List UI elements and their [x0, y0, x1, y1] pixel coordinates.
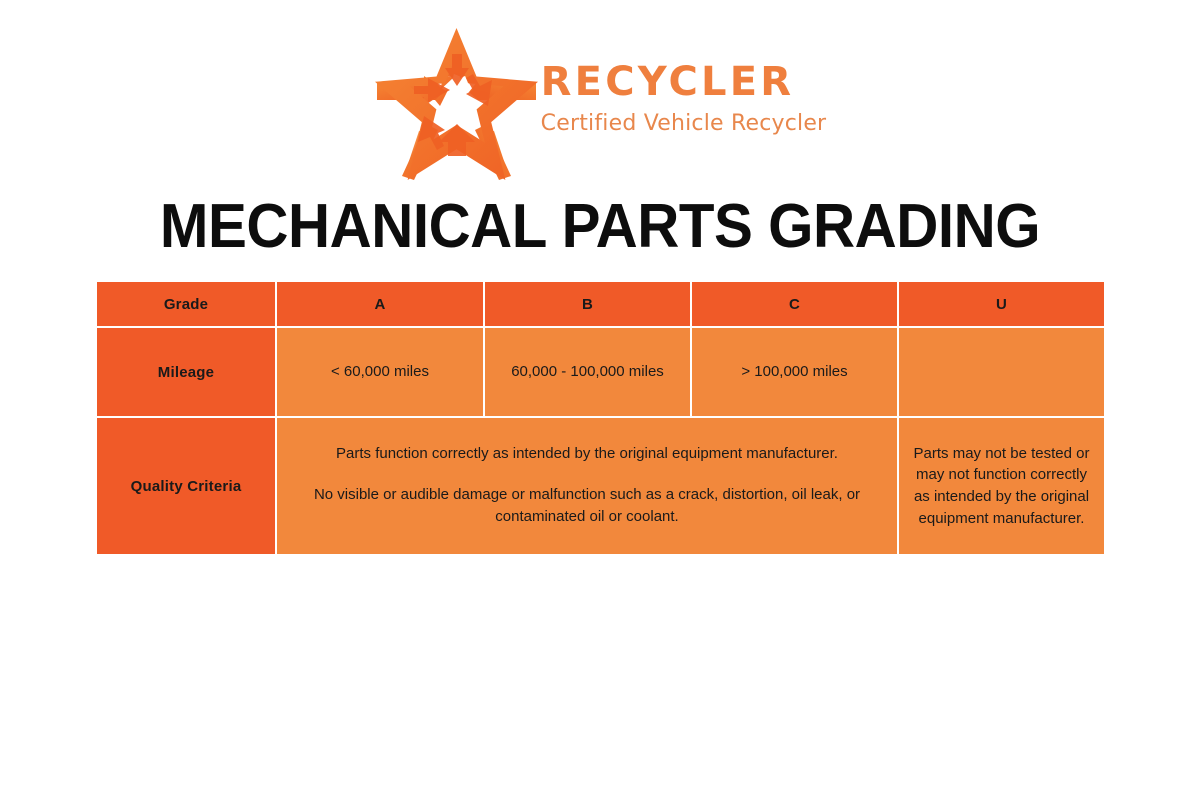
logo-wordmark: RECYCLER Certified Vehicle Recycler [541, 62, 827, 147]
mileage-grade-b: 60,000 - 100,000 miles [484, 327, 691, 417]
table-header-row: Grade A B C U [96, 281, 1105, 327]
logo-name: RECYCLER [541, 62, 827, 102]
logo-tagline: Certified Vehicle Recycler [541, 113, 827, 135]
logo-inner: RECYCLER Certified Vehicle Recycler [374, 28, 827, 180]
mileage-grade-u [898, 327, 1105, 417]
quality-criteria-paragraph-2: No visible or audible damage or malfunct… [303, 484, 871, 529]
header-grade-u: U [898, 281, 1105, 327]
mechanical-parts-grading-table: Grade A B C U Mileage < 60,000 miles 60,… [95, 280, 1106, 556]
quality-criteria-grade-u: Parts may not be tested or may not funct… [898, 417, 1105, 555]
mileage-grade-a: < 60,000 miles [276, 327, 484, 417]
quality-criteria-grades-abc: Parts function correctly as intended by … [276, 417, 898, 555]
header-grade-a: A [276, 281, 484, 327]
row-label-mileage: Mileage [96, 327, 276, 417]
mileage-grade-c: > 100,000 miles [691, 327, 898, 417]
header-grade-c: C [691, 281, 898, 327]
brand-logo: RECYCLER Certified Vehicle Recycler [0, 28, 1200, 180]
page-title: MECHANICAL PARTS GRADING [36, 196, 1164, 258]
row-label-quality-criteria: Quality Criteria [96, 417, 276, 555]
recycling-star-icon [374, 28, 539, 180]
table-row-mileage: Mileage < 60,000 miles 60,000 - 100,000 … [96, 327, 1105, 417]
quality-criteria-paragraph-1: Parts function correctly as intended by … [303, 443, 871, 466]
header-grade-b: B [484, 281, 691, 327]
header-grade: Grade [96, 281, 276, 327]
table-row-quality-criteria: Quality Criteria Parts function correctl… [96, 417, 1105, 555]
